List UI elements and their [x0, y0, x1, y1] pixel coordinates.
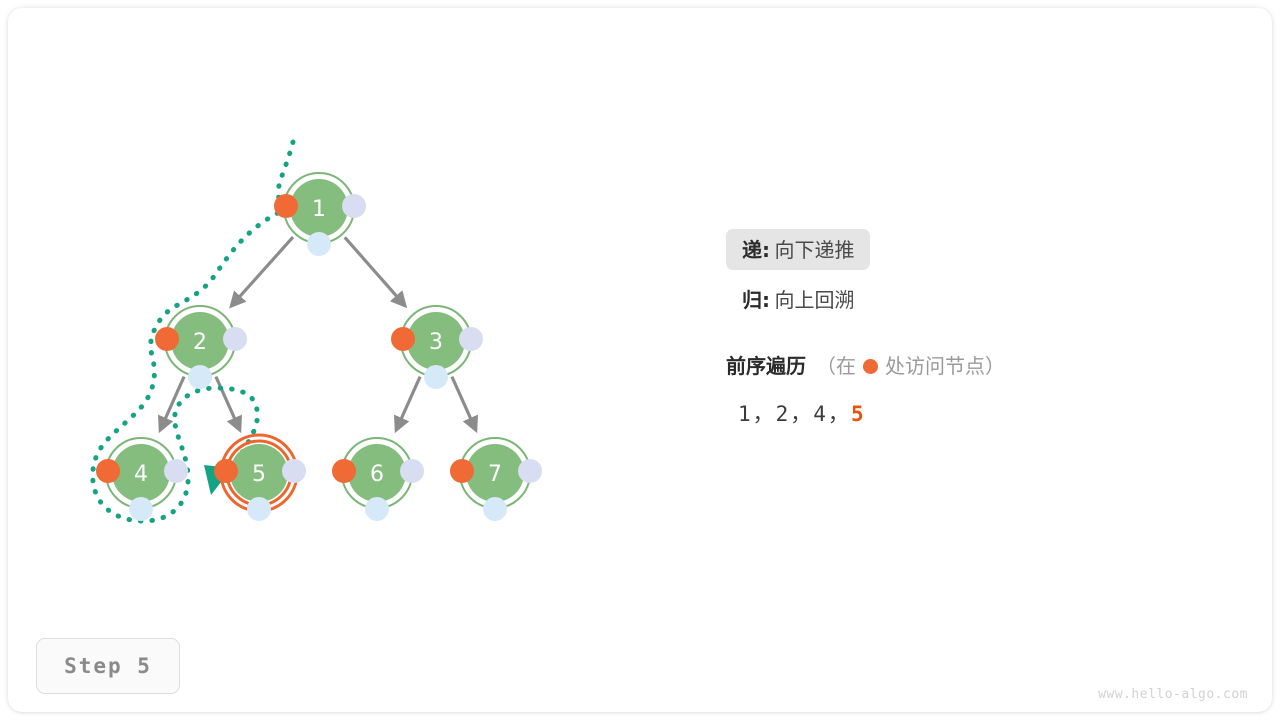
explanation-panel: 递: 向下递推 归: 向上回溯 前序遍历 （在 处访问节点） 1，2，4，5	[726, 232, 1206, 428]
legend-value-return: 向上回溯	[774, 288, 854, 312]
node-visit-marker	[96, 459, 120, 483]
legend-badge-recurse: 递: 向下递推	[726, 229, 870, 270]
node-label: 3	[429, 330, 443, 355]
legend-badge-return: 归: 向上回溯	[726, 279, 870, 320]
orange-dot-icon	[863, 359, 878, 374]
tree-edge	[216, 377, 240, 430]
node-right-port	[223, 327, 247, 351]
traversal-note-before: （在	[816, 350, 856, 379]
node-label: 7	[488, 462, 502, 487]
sequence-visited: 1，2，4，	[738, 402, 851, 426]
tree-edge	[396, 377, 420, 430]
node-bottom-port	[365, 497, 389, 521]
tree-node-6[interactable]: 6	[332, 438, 424, 521]
node-bottom-port	[247, 497, 271, 521]
tree-node-7[interactable]: 7	[450, 438, 542, 521]
legend-value-recurse: 向下递推	[774, 238, 854, 262]
node-right-port	[518, 459, 542, 483]
node-label: 1	[312, 197, 326, 222]
node-right-port	[459, 327, 483, 351]
traversal-title: 前序遍历	[726, 350, 806, 379]
node-right-port	[342, 194, 366, 218]
node-visit-marker	[214, 459, 238, 483]
step-badge: Step 5	[36, 638, 180, 694]
traversal-sequence: 1，2，4，5	[738, 398, 1206, 428]
node-label: 5	[252, 462, 266, 487]
legend-row-return: 归: 向上回溯	[726, 282, 1206, 316]
node-label: 2	[193, 330, 207, 355]
traversal-heading: 前序遍历 （在 处访问节点）	[726, 350, 1206, 379]
tree-node-3[interactable]: 3	[391, 306, 483, 389]
watermark-text: www.hello-algo.com	[1098, 687, 1248, 702]
traversal-note-after: 处访问节点）	[885, 350, 1005, 379]
tree-node-2[interactable]: 2	[155, 306, 247, 389]
node-visit-marker	[332, 459, 356, 483]
legend-key-recurse: 递:	[742, 238, 770, 262]
node-bottom-port	[307, 232, 331, 256]
node-visit-marker	[391, 327, 415, 351]
tree-edge	[345, 237, 405, 305]
tree-edge	[452, 377, 476, 430]
node-bottom-port	[483, 497, 507, 521]
node-right-port	[164, 459, 188, 483]
legend-row-recurse: 递: 向下递推	[726, 232, 1206, 266]
node-bottom-port	[129, 497, 153, 521]
node-right-port	[400, 459, 424, 483]
node-bottom-port	[188, 365, 212, 389]
node-visit-marker	[450, 459, 474, 483]
node-right-port	[282, 459, 306, 483]
slide-stage: 1234567 递: 向下递推 归: 向上回溯 前序遍历 （在 处访问节点） 1…	[0, 0, 1280, 720]
tree-edge	[231, 237, 293, 306]
step-label: Step 5	[64, 654, 152, 678]
sequence-current: 5	[851, 402, 866, 426]
tree-nodes: 1234567	[96, 173, 542, 521]
node-label: 6	[370, 462, 384, 487]
node-visit-marker	[155, 327, 179, 351]
watermark: www.hello-algo.com	[1098, 687, 1248, 702]
node-bottom-port	[424, 365, 448, 389]
node-label: 4	[134, 462, 148, 487]
tree-node-5[interactable]: 5	[214, 435, 306, 521]
node-visit-marker	[274, 194, 298, 218]
legend-key-return: 归:	[742, 288, 770, 312]
